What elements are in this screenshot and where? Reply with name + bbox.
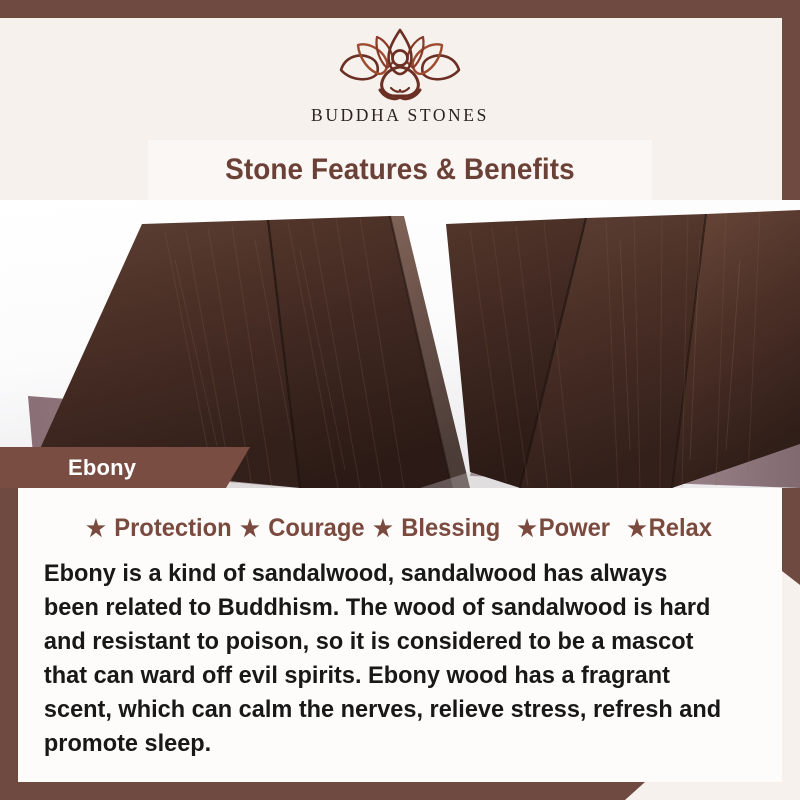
- product-photo: [0, 200, 800, 488]
- feature-item-protection: Protection: [114, 514, 231, 542]
- star-icon: ★: [627, 515, 647, 541]
- brand-name: BUDDHA STONES: [311, 105, 489, 126]
- content-panel: ★ Protection ★ Courage ★ Blessing ★Power…: [18, 488, 782, 782]
- feature-item-blessing: Blessing: [401, 514, 500, 542]
- infographic-page: BUDDHA STONES: [0, 0, 800, 800]
- star-icon: ★: [373, 515, 393, 541]
- ebony-wood-planks-photo: [0, 200, 800, 488]
- feature-item-courage: Courage: [268, 514, 364, 542]
- product-name-label: Ebony: [0, 455, 136, 481]
- page-title: Stone Features & Benefits: [225, 153, 575, 187]
- feature-item-power: Power: [539, 514, 610, 542]
- lotus-meditation-figure-icon: [325, 24, 475, 102]
- feature-item-relax: Relax: [649, 514, 712, 542]
- brand-header: BUDDHA STONES: [0, 18, 800, 140]
- product-name-badge: Ebony: [0, 447, 250, 488]
- description-text: Ebony is a kind of sandalwood, sandalwoo…: [42, 557, 729, 761]
- frame-bar-bottom: [0, 782, 645, 800]
- star-icon: ★: [86, 515, 106, 541]
- title-banner: Stone Features & Benefits: [148, 140, 652, 200]
- star-icon: ★: [517, 515, 537, 541]
- feature-list: ★ Protection ★ Courage ★ Blessing ★Power…: [60, 514, 740, 543]
- frame-bar-top: [0, 0, 800, 18]
- star-icon: ★: [240, 515, 260, 541]
